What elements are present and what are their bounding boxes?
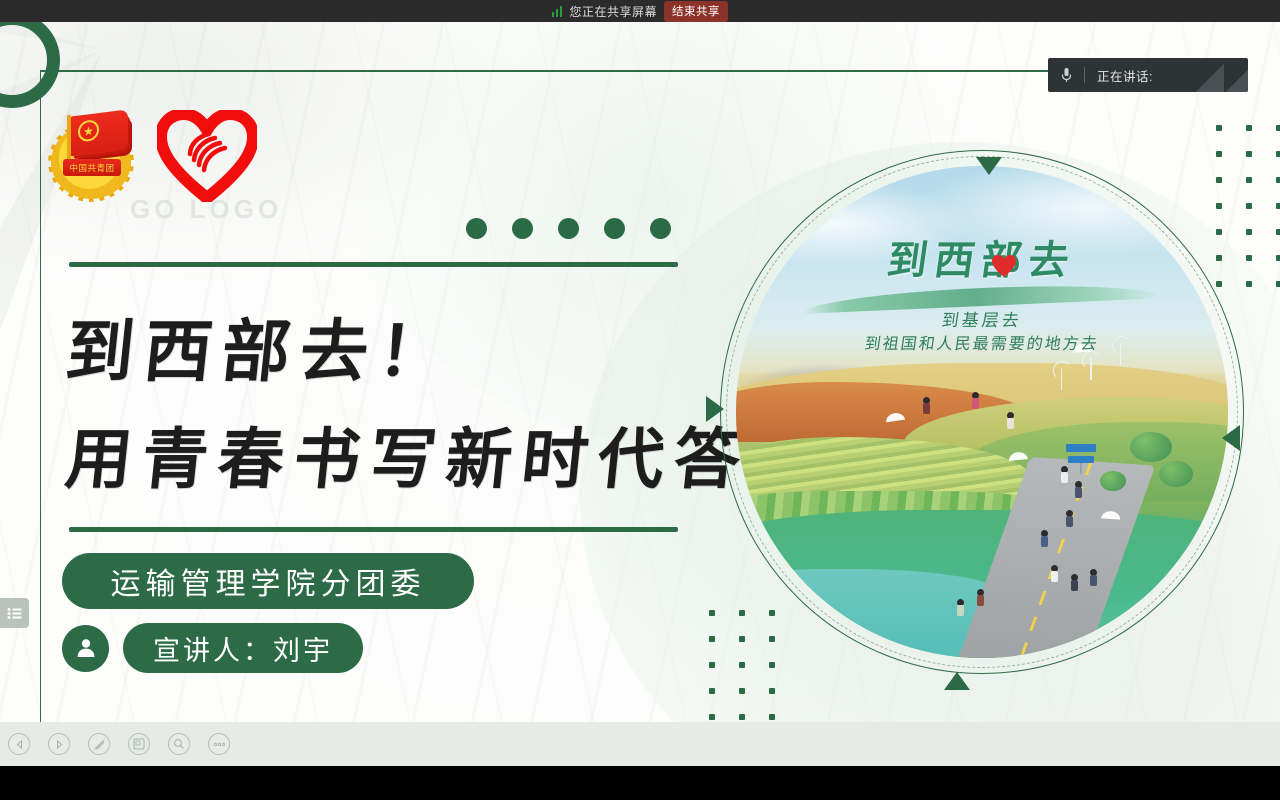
next-slide-button[interactable] [48, 733, 70, 755]
title-rule-top [69, 262, 678, 267]
speaker-name-badge: 宣讲人：刘宇 [123, 623, 363, 673]
poster-figure [1041, 530, 1048, 547]
speaker-row: 宣讲人：刘宇 [62, 623, 363, 673]
triangle-marker-left [706, 396, 724, 422]
poster-figure [1071, 574, 1078, 591]
poster-bush [1100, 471, 1126, 491]
slide-border-frame-top [40, 70, 1216, 72]
previous-slide-button[interactable] [8, 733, 30, 755]
more-options-button[interactable] [208, 733, 230, 755]
speaking-indicator: 正在讲话: [1048, 58, 1248, 92]
poster-figure [923, 397, 930, 414]
speaking-chevron-decoration [1192, 64, 1248, 92]
poster-figure [1061, 466, 1068, 483]
decorative-dots-row [466, 218, 671, 239]
poster-figure [977, 589, 984, 606]
dot-grid-top-right [1216, 125, 1280, 287]
annotate-pen-button[interactable] [88, 733, 110, 755]
dot-grid-bottom-left [709, 610, 775, 722]
poster-figure [1007, 412, 1014, 429]
poster-figure [1051, 565, 1058, 582]
bottom-letterbox [0, 766, 1280, 800]
slide-title-main: 到西部去！ [62, 318, 459, 386]
poster-circle-group: 到西部去 到基层去 到祖国和人民最需要的地方去 [712, 142, 1252, 682]
poster-figure [957, 599, 964, 616]
triangle-marker-top [976, 157, 1002, 175]
stop-share-button[interactable]: 结束共享 [664, 1, 728, 22]
emblem-flag-icon: ★ [70, 109, 128, 156]
speaking-label: 正在讲话: [1085, 66, 1153, 85]
microphone-icon [1048, 67, 1084, 83]
share-status-text: 您正在共享屏幕 [569, 3, 657, 20]
poster-line-two: 到基层去 [736, 306, 1228, 331]
organization-badge: 运输管理学院分团委 [62, 553, 474, 609]
poster-bush [1130, 432, 1172, 462]
wind-turbine-icon [1090, 358, 1092, 380]
logo-watermark: GO LOGO [130, 194, 282, 225]
poster-road-sign [1080, 446, 1082, 474]
slide-canvas: ★ 中国共青团 GO LOGO 到西部去！ 用青春书写新时代答卷 运输管理学院分… [0, 22, 1280, 722]
list-panel-icon[interactable] [0, 598, 29, 628]
logo-group: ★ 中国共青团 [45, 110, 257, 202]
poster-figure [1075, 481, 1082, 498]
triangle-marker-right [1222, 425, 1240, 451]
poster-line-three: 到祖国和人民最需要的地方去 [736, 330, 1228, 354]
red-heart-icon [991, 254, 1017, 278]
zoom-button[interactable] [168, 733, 190, 755]
title-rule-bottom [69, 527, 678, 532]
person-icon [62, 625, 109, 672]
presentation-toolbar [0, 722, 1280, 766]
emblem-star-icon: ★ [78, 119, 99, 143]
triangle-marker-bottom [944, 672, 970, 690]
screen-share-bar: 您正在共享屏幕 结束共享 [0, 0, 1280, 22]
poster-figure [1090, 569, 1097, 586]
volunteer-heart-hand-logo [157, 110, 257, 202]
poster-illustration: 到西部去 到基层去 到祖国和人民最需要的地方去 [736, 166, 1228, 658]
signal-bars-icon [552, 6, 563, 17]
layout-grid-button[interactable] [128, 733, 150, 755]
communist-youth-league-emblem: ★ 中国共青团 [45, 111, 141, 201]
poster-headline: 到西部去 [736, 228, 1228, 286]
poster-figure [1066, 510, 1073, 527]
wind-turbine-icon [1061, 368, 1063, 390]
poster-figure [972, 392, 979, 409]
emblem-band-text: 中国共青团 [63, 159, 121, 176]
emblem-flag-pole [67, 114, 71, 164]
